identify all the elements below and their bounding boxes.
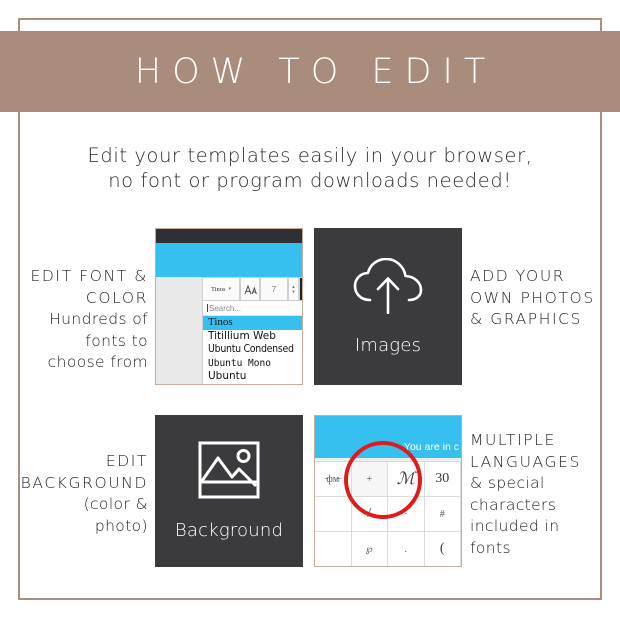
tile-background-label: Background [175,520,283,541]
caption-languages-line-4: characters [470,495,610,517]
caption-languages-line-3: & special [470,473,610,495]
caption-edit-background: EDIT BACKGROUND (color & photo) [14,451,148,537]
character-cell[interactable] [315,497,352,532]
character-cell[interactable]: ( [425,532,462,567]
caption-add-photos-line-3: & GRAPHICS [470,309,610,331]
caption-edit-font-color-line-3: Hundreds of [14,309,148,331]
caption-add-photos: ADD YOUR OWN PHOTOS & GRAPHICS [470,266,610,331]
editor-banner [156,243,302,277]
character-cell[interactable]: # [425,497,462,532]
caption-edit-background-line-4: photo) [14,516,148,538]
font-size-stepper[interactable]: ▲ ▼ [288,277,299,301]
editor-title-bar [156,229,302,243]
character-cell[interactable]: + [352,462,389,497]
character-cell[interactable]: ℘ [352,532,389,567]
character-cell[interactable]: · [388,497,425,532]
image-icon [198,441,260,504]
character-cell[interactable]: / [352,497,389,532]
character-cell[interactable]: ℳ [388,462,425,497]
subtitle: Edit your templates easily in your brows… [0,143,620,193]
font-list-item-ubuntu-condensed[interactable]: Ubuntu Condensed [203,343,303,357]
font-dropdown-panel: Search... Tinos Titillium Web Ubuntu Con… [202,301,303,384]
font-toolbar: Tinos ▾ 7 ▲ ▼ [202,277,303,301]
font-list-item-tinos[interactable]: Tinos [203,316,303,330]
font-search-placeholder: Search... [209,304,241,313]
screenshot-characters-panel: You are in c ̵фм̶ + ℳ 30 / · # ℘ . ( [314,415,462,567]
tile-background[interactable]: Background [155,415,303,567]
subtitle-line-1: Edit your templates easily in your brows… [0,143,620,168]
character-cell[interactable]: 30 [425,462,462,497]
font-size-icon[interactable] [240,277,260,301]
screenshot-font-picker: Tinos ▾ 7 ▲ ▼ S [155,228,303,385]
font-list: Tinos Titillium Web Ubuntu Condensed Ubu… [203,316,303,384]
stepper-up-icon[interactable]: ▲ [292,285,296,289]
subtitle-line-2: no font or program downloads needed! [0,168,620,193]
font-list-item-ubuntu[interactable]: Ubuntu [203,370,303,384]
page-title: HOW TO EDIT [124,52,496,92]
font-list-item-titillium-web[interactable]: Titillium Web [203,330,303,344]
caption-edit-font-color: EDIT FONT & COLOR Hundreds of fonts to c… [14,266,148,374]
caption-languages-line-2: LANGUAGES [470,452,610,474]
caption-languages-line-6: fonts [470,538,610,560]
caption-languages: MULTIPLE LANGUAGES & special characters … [470,430,610,559]
banner: HOW TO EDIT [0,31,620,112]
caption-languages-line-5: included in [470,516,610,538]
poster-root: HOW TO EDIT Edit your templates easily i… [0,0,620,620]
characters-banner: You are in c [315,416,461,458]
caption-edit-font-color-line-5: choose from [14,352,148,374]
font-name-dropdown[interactable]: Tinos ▾ [202,277,240,301]
caret-icon [207,304,208,312]
caption-add-photos-line-2: OWN PHOTOS [470,288,610,310]
character-cell[interactable] [315,532,352,567]
character-grid: ̵фм̶ + ℳ 30 / · # ℘ . ( [315,462,461,567]
font-name-value: Tinos [211,286,226,293]
tile-images[interactable]: Images [314,228,462,385]
character-cell[interactable]: . [388,532,425,567]
cloud-upload-icon [351,258,425,319]
caption-edit-font-color-line-4: fonts to [14,331,148,353]
font-size-input[interactable]: 7 [260,277,288,301]
character-cell[interactable]: ̵фм̶ [315,462,352,497]
caption-languages-line-1: MULTIPLE [470,430,610,452]
caption-edit-background-line-1: EDIT [14,451,148,473]
caption-edit-background-line-2: BACKGROUND [14,473,148,495]
tile-images-label: Images [355,335,421,356]
caption-add-photos-line-1: ADD YOUR [470,266,610,288]
stepper-down-icon[interactable]: ▼ [292,290,296,294]
font-list-item-ubuntu-mono[interactable]: Ubuntu Mono [203,357,303,371]
caption-edit-font-color-line-2: COLOR [14,288,148,310]
caption-edit-font-color-line-1: EDIT FONT & [14,266,148,288]
editor-canvas: Tinos ▾ 7 ▲ ▼ S [156,277,302,384]
font-search-input[interactable]: Search... [203,301,303,316]
chevron-down-icon: ▾ [229,286,232,292]
text-cursor [299,277,303,301]
characters-banner-message: You are in c [404,441,459,453]
caption-edit-background-line-3: (color & [14,494,148,516]
